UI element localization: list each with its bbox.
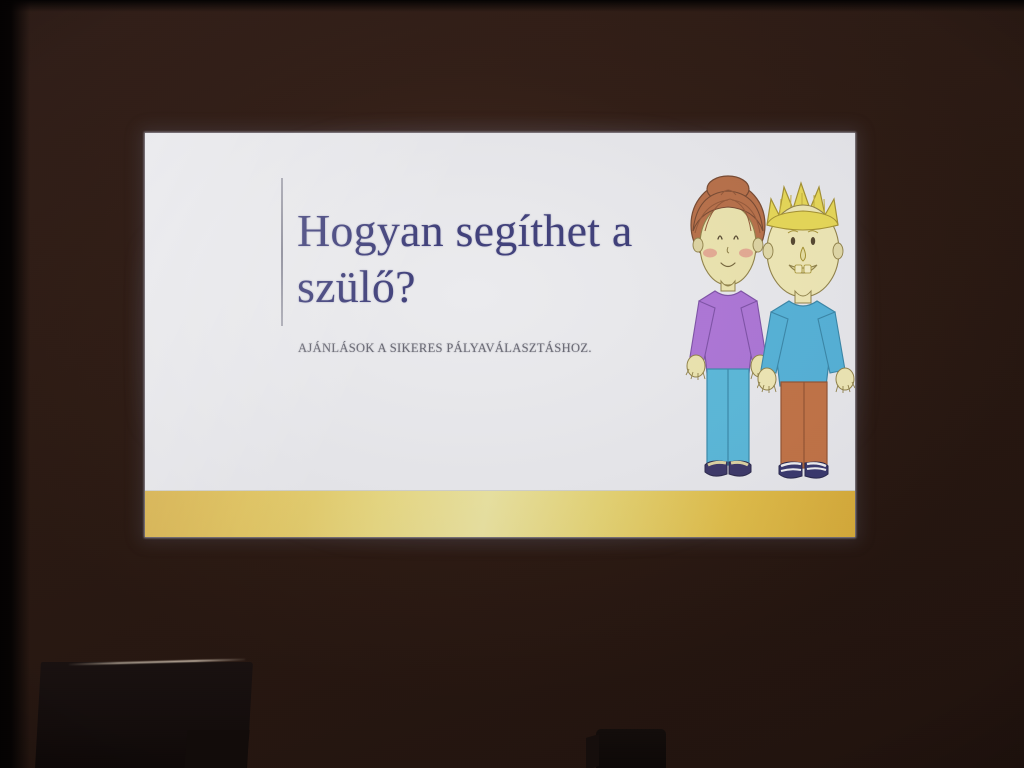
- photograph: Hogyan segíthet a szülő? AJÁNLÁSOK A SIK…: [0, 0, 1024, 768]
- microphone-silhouette: [596, 729, 666, 768]
- boy-figure: [757, 173, 855, 498]
- slide-footer-band: [145, 490, 855, 537]
- laptop-base-silhouette: [184, 730, 249, 768]
- slide-title: Hogyan segíthet a szülő?: [297, 203, 717, 315]
- children-illustration: [685, 173, 855, 498]
- presentation-slide: Hogyan segíthet a szülő? AJÁNLÁSOK A SIK…: [145, 133, 855, 537]
- title-accent-rule: [281, 178, 283, 326]
- slide-subtitle: AJÁNLÁSOK A SIKERES PÁLYAVÁLASZTÁSHOZ.: [298, 341, 592, 356]
